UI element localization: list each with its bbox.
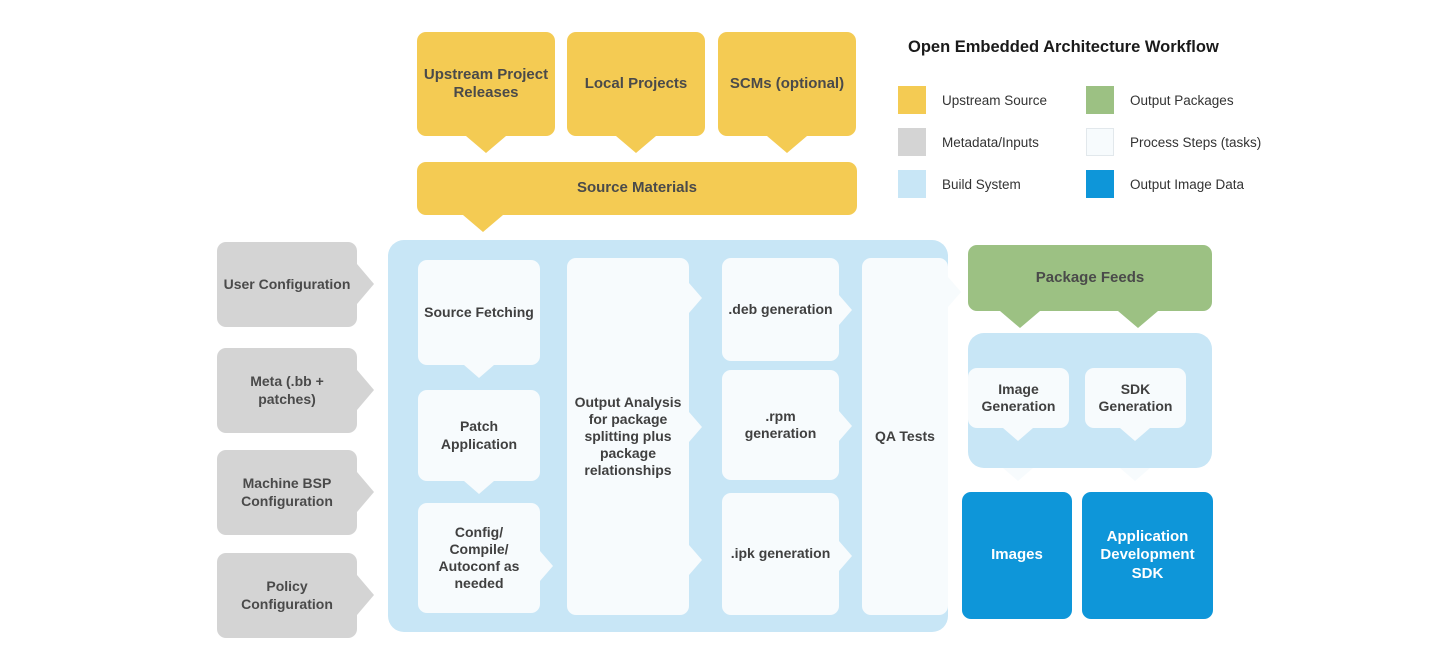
node-label: User Configuration (217, 276, 357, 293)
node-scms-optional[interactable]: SCMs (optional) (718, 32, 856, 136)
node-sdk-generation[interactable]: SDK Generation (1085, 368, 1186, 428)
legend-swatch-process-steps (1086, 128, 1114, 156)
node-ipk-generation[interactable]: .ipk generation (722, 493, 839, 615)
arrow-container-to-app-dev-sdk (1120, 468, 1150, 481)
node-label: Output Analysis for package splitting pl… (567, 394, 689, 479)
legend-swatch-upstream-source (898, 86, 926, 114)
node-label: Image Generation (968, 381, 1069, 415)
node-application-development-sdk[interactable]: Application Development SDK (1082, 492, 1213, 619)
node-patch-application[interactable]: Patch Application (418, 390, 540, 481)
node-label: Policy Configuration (217, 578, 357, 612)
architecture-workflow-diagram: Open Embedded Architecture Workflow Upst… (0, 0, 1440, 669)
legend-item-output-packages: Output Packages (1086, 86, 1234, 114)
node-label: Source Materials (417, 179, 857, 197)
arrow-output-analysis-to-ipk-generation (689, 545, 702, 575)
node-source-fetching[interactable]: Source Fetching (418, 260, 540, 365)
node-local-projects[interactable]: Local Projects (567, 32, 705, 136)
arrow-source-materials-to-build-system (463, 215, 503, 232)
arrow-upstream-to-source-materials (466, 136, 506, 153)
legend-item-build-system: Build System (898, 170, 1021, 198)
node-label: Meta (.bb + patches) (217, 373, 357, 407)
node-label: Source Fetching (418, 304, 540, 321)
node-deb-generation[interactable]: .deb generation (722, 258, 839, 361)
legend-label-build-system: Build System (942, 177, 1021, 192)
legend-swatch-build-system (898, 170, 926, 198)
arrow-ipk-generation-to-qa-tests (839, 541, 852, 571)
legend-label-metadata-inputs: Metadata/Inputs (942, 135, 1039, 150)
node-label: SCMs (optional) (718, 75, 856, 93)
node-images[interactable]: Images (962, 492, 1072, 619)
arrow-output-analysis-to-rpm-generation (689, 412, 702, 442)
node-label: Upstream Project Releases (417, 66, 555, 103)
node-label: Machine BSP Configuration (217, 475, 357, 509)
node-qa-tests[interactable]: QA Tests (862, 258, 948, 615)
legend-swatch-output-image-data (1086, 170, 1114, 198)
legend-item-process-steps: Process Steps (tasks) (1086, 128, 1261, 156)
node-package-feeds[interactable]: Package Feeds (968, 245, 1212, 311)
arrow-meta-to-build-system (357, 370, 374, 410)
arrow-qa-tests-to-package-feeds (948, 277, 961, 307)
node-output-analysis[interactable]: Output Analysis for package splitting pl… (567, 258, 689, 615)
node-label: Images (962, 546, 1072, 564)
legend-item-metadata-inputs: Metadata/Inputs (898, 128, 1039, 156)
arrow-machine-bsp-to-build-system (357, 472, 374, 512)
node-label: Patch Application (418, 418, 540, 452)
node-label: .ipk generation (722, 545, 839, 562)
legend-label-upstream-source: Upstream Source (942, 93, 1047, 108)
node-label: Config/ Compile/ Autoconf as needed (418, 524, 540, 592)
arrow-rpm-generation-to-qa-tests (839, 411, 852, 441)
arrow-local-projects-to-source-materials (616, 136, 656, 153)
node-source-materials[interactable]: Source Materials (417, 162, 857, 215)
node-policy-configuration[interactable]: Policy Configuration (217, 553, 357, 638)
node-label: Application Development SDK (1082, 528, 1213, 583)
legend-label-process-steps: Process Steps (tasks) (1130, 135, 1261, 150)
node-label: .rpm generation (722, 408, 839, 442)
arrow-user-configuration-to-build-system (357, 264, 374, 304)
arrow-image-generation-to-images (1003, 428, 1033, 441)
arrow-deb-generation-to-qa-tests (839, 295, 852, 325)
node-label: SDK Generation (1085, 381, 1186, 415)
node-user-configuration[interactable]: User Configuration (217, 242, 357, 327)
node-label: .deb generation (722, 301, 839, 318)
arrow-sdk-generation-to-app-dev-sdk (1120, 428, 1150, 441)
arrow-source-fetching-to-patch-application (464, 365, 494, 378)
legend-item-output-image-data: Output Image Data (1086, 170, 1244, 198)
arrow-patch-application-to-config-compile (464, 481, 494, 494)
node-rpm-generation[interactable]: .rpm generation (722, 370, 839, 480)
arrow-scms-to-source-materials (767, 136, 807, 153)
arrow-package-feeds-to-image-generation (1000, 311, 1040, 328)
legend-item-upstream-source: Upstream Source (898, 86, 1047, 114)
legend-swatch-metadata-inputs (898, 128, 926, 156)
legend-label-output-image-data: Output Image Data (1130, 177, 1244, 192)
legend-swatch-output-packages (1086, 86, 1114, 114)
node-label: Local Projects (567, 75, 705, 93)
diagram-title: Open Embedded Architecture Workflow (908, 38, 1219, 57)
node-label: QA Tests (862, 428, 948, 445)
node-upstream-project-releases[interactable]: Upstream Project Releases (417, 32, 555, 136)
legend-label-output-packages: Output Packages (1130, 93, 1234, 108)
node-meta-bb-patches[interactable]: Meta (.bb + patches) (217, 348, 357, 433)
arrow-output-analysis-to-deb-generation (689, 283, 702, 313)
node-machine-bsp-configuration[interactable]: Machine BSP Configuration (217, 450, 357, 535)
arrow-policy-to-build-system (357, 575, 374, 615)
node-config-compile-autoconf[interactable]: Config/ Compile/ Autoconf as needed (418, 503, 540, 613)
arrow-package-feeds-to-sdk-generation (1118, 311, 1158, 328)
node-image-generation[interactable]: Image Generation (968, 368, 1069, 428)
arrow-container-to-images (1003, 468, 1033, 481)
arrow-config-compile-to-output-analysis (540, 551, 553, 581)
node-label: Package Feeds (968, 269, 1212, 287)
